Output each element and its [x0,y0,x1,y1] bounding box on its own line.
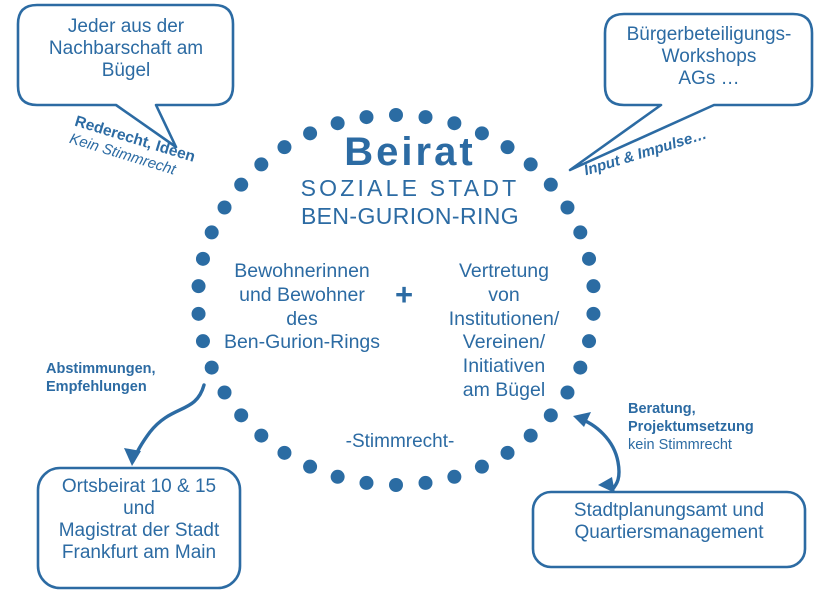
arrow-beratung [573,412,619,493]
inner-column-left-line-1: Bewohnerinnen [208,260,396,284]
ring-dot [447,470,461,484]
subtitle-soziale-stadt: SOZIALE STADT [0,174,820,202]
bubble-right-line-3: AGs … [610,68,808,90]
annotation-beratung-line-3: kein Stimmrecht [628,436,754,454]
ring-dot [331,470,345,484]
inner-column-right-line-5: Initiativen [424,355,584,379]
bubble-right-line-2: Workshops [610,46,808,68]
bubble-left-line-3: Bügel [26,60,226,82]
box-right-line-1: Stadtplanungsamt und [538,500,800,522]
speech-bubble-top-left-label: Jeder aus der Nachbarschaft am Bügel [26,16,226,82]
bubble-left-line-1: Jeder aus der [26,16,226,38]
box-left-line-1: Ortsbeirat 10 & 15 [42,476,236,498]
ring-dot [303,460,317,474]
inner-column-left-line-3: des [208,308,396,332]
speech-bubble-top-right-label: Bürgerbeteiligungs- Workshops AGs … [610,24,808,90]
inner-column-left-line-4: Ben-Gurion-Rings [208,331,396,355]
ring-dot [582,334,596,348]
ring-dot [205,361,219,375]
diagram-canvas: Beirat SOZIALE STADT BEN-GURION-RING Bew… [0,0,820,600]
ring-dot [419,476,433,490]
inner-column-right: Vertretung von Institutionen/ Vereinen/ … [424,260,584,403]
inner-column-right-line-1: Vertretung [424,260,584,284]
box-right-line-2: Quartiersmanagement [538,522,800,544]
inner-column-right-line-4: Vereinen/ [424,331,584,355]
plus-icon: + [384,276,424,314]
ring-dot [192,307,206,321]
stimmrecht-note: -Stimmrecht- [280,430,520,453]
box-left-line-2: und [42,498,236,520]
annotation-abstimmungen: Abstimmungen, Empfehlungen [46,360,156,396]
inner-column-right-line-6: am Bügel [424,379,584,403]
arrow-abstimmungen [124,385,204,466]
subtitle-ben-gurion-ring: BEN-GURION-RING [0,202,820,230]
box-bottom-left-label: Ortsbeirat 10 & 15 und Magistrat der Sta… [42,476,236,564]
inner-column-right-line-3: Institutionen/ [424,308,584,332]
bubble-right-line-1: Bürgerbeteiligungs- [610,24,808,46]
box-bottom-right-label: Stadtplanungsamt und Quartiersmanagement [538,500,800,544]
annotation-beratung-line-1: Beratung, [628,400,754,418]
ring-dot [192,279,206,293]
inner-column-left: Bewohnerinnen und Bewohner des Ben-Gurio… [208,260,396,355]
inner-column-right-line-2: von [424,284,584,308]
inner-column-left-line-2: und Bewohner [208,284,396,308]
ring-dot [218,386,232,400]
annotation-abstimmungen-line-1: Abstimmungen, [46,360,156,378]
box-left-line-3: Magistrat der Stadt [42,520,236,542]
ring-dot [582,252,596,266]
annotation-abstimmungen-line-2: Empfehlungen [46,378,156,396]
ring-dot [544,408,558,422]
ring-dot [234,408,248,422]
box-left-line-4: Frankfurt am Main [42,542,236,564]
bubble-left-line-2: Nachbarschaft am [26,38,226,60]
ring-dot [359,476,373,490]
ring-dot [419,110,433,124]
annotation-beratung: Beratung, Projektumsetzung kein Stimmrec… [628,400,754,454]
ring-dot [524,429,538,443]
ring-dot [389,478,403,492]
ring-dot [586,279,600,293]
ring-dot [359,110,373,124]
ring-dot [475,460,489,474]
ring-dot [389,108,403,122]
annotation-beratung-line-2: Projektumsetzung [628,418,754,436]
ring-dot [254,429,268,443]
ring-dot [586,307,600,321]
